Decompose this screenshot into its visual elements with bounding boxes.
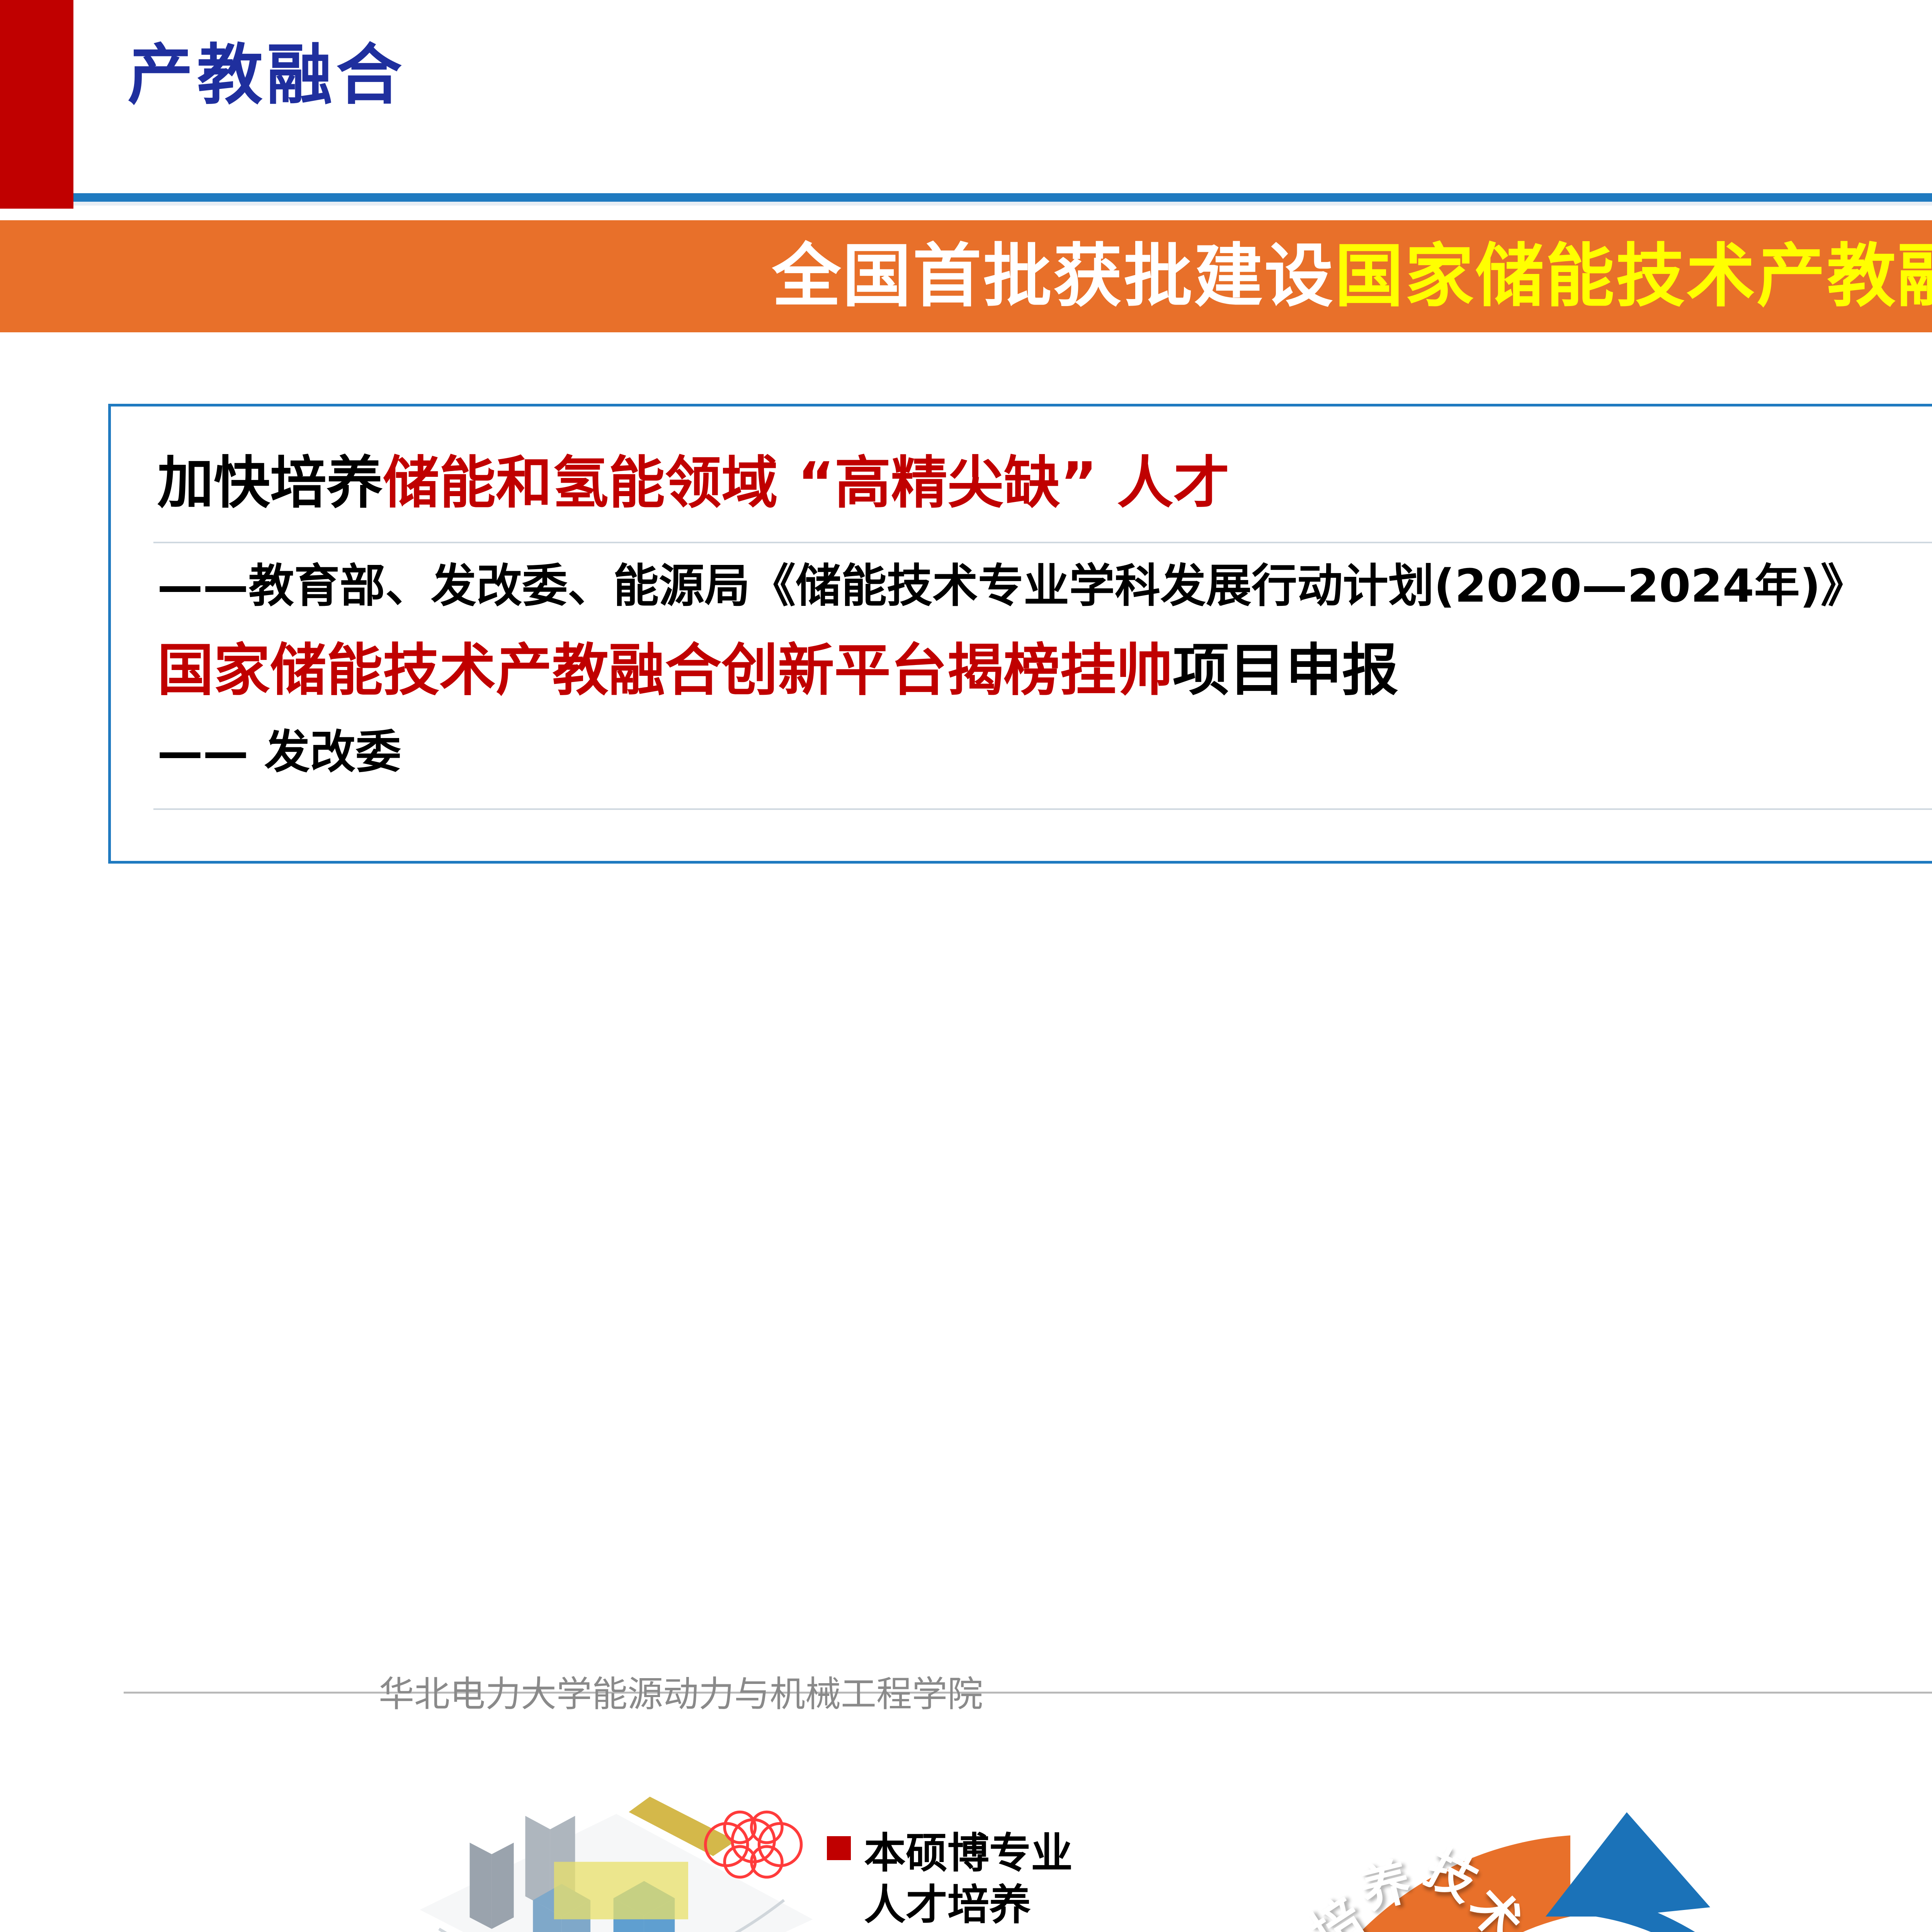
section-banner: 全国首批获批建设国家储能技术产教融合创新平台 (0, 220, 1932, 332)
banner-text-white: 全国首批获批建设 (772, 242, 1335, 311)
left-item-0[interactable]: 本硕博专业 人才培养 (827, 1828, 1073, 1931)
policy-text-box: 加快培养储能和氢能领域 “高精尖缺” 人才 ——教育部、发改委、能源局《储能技术… (108, 404, 1932, 864)
footer-text: 华北电力大学能源动力与机械工程学院 (379, 1665, 983, 1717)
policy-source-1: ——教育部、发改委、能源局《储能技术专业学科发展行动计划(2020—2024年)… (157, 563, 1866, 609)
policy-divider-2 (153, 808, 1932, 810)
cycle-ring: 人 才 培 养 技 术 攻 关 范 示 业 产 (1194, 1777, 1932, 1932)
cycle-ring-arcs (1194, 1777, 1932, 1932)
page-title: 产教融合 (128, 43, 406, 108)
slide-header: 产教融合 NORTH CHINA ELECTRIC POWER UNIVERSI… (0, 0, 1932, 193)
header-divider-shadow (0, 202, 1932, 206)
header-divider-blue (0, 193, 1932, 202)
policy-source-2: —— 发改委 (157, 729, 401, 775)
policy-divider-1 (153, 542, 1932, 543)
slide-root: 产教融合 NORTH CHINA ELECTRIC POWER UNIVERSI… (0, 0, 1932, 1739)
power-plant-isometric-icon (1349, 1928, 1932, 1932)
power-plant-thumbnail (410, 1785, 823, 1932)
left-item-0-label: 本硕博专业 人才培养 (864, 1828, 1073, 1931)
cycle-diagram: 人 才 培 养 技 术 攻 关 范 示 业 产 (0, 885, 1932, 1704)
policy-line-1: 加快培养储能和氢能领域 “高精尖缺” 人才 (157, 455, 1230, 511)
policy-line-1-black: 加快培养 (157, 450, 383, 516)
policy-line-2-black: 项目申报 (1173, 638, 1398, 703)
header-red-accent-bar (0, 0, 73, 193)
policy-line-1-red: 储能和氢能领域 “高精尖缺” 人才 (383, 450, 1230, 516)
header-red-accent-foot (0, 193, 73, 209)
bullet-square-icon (827, 1836, 851, 1860)
connector-lines (0, 885, 1932, 1932)
policy-line-2-red: 国家储能技术产教融合创新平台揭榜挂帅 (157, 638, 1173, 703)
banner-text-highlight: 国家储能技术产教融合创新平台 (1335, 242, 1932, 311)
policy-line-2: 国家储能技术产教融合创新平台揭榜挂帅项目申报 (157, 642, 1398, 699)
tech-arc-shape (1546, 1812, 1855, 1932)
